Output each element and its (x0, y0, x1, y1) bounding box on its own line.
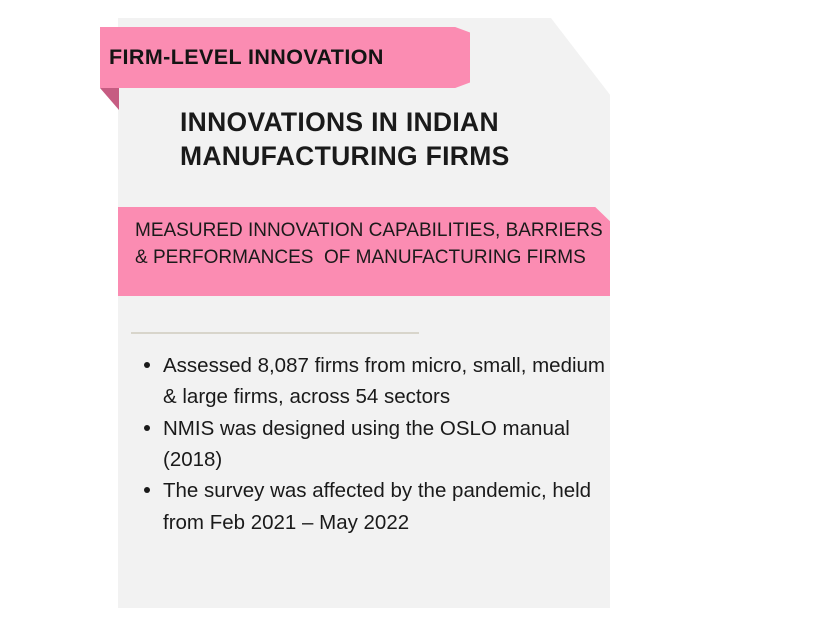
list-item: Assessed 8,087 firms from micro, small, … (163, 350, 615, 413)
slide-canvas: FIRM-LEVEL INNOVATION INNOVATIONS IN IND… (0, 0, 825, 619)
page-title: INNOVATIONS IN INDIAN MANUFACTURING FIRM… (180, 106, 580, 174)
divider (131, 332, 419, 334)
subtitle-band: MEASURED INNOVATION CAPABILITIES, BARRIE… (118, 207, 610, 296)
list-item: The survey was affected by the pandemic,… (163, 475, 615, 538)
list-item: NMIS was designed using the OSLO manual … (163, 413, 615, 476)
bullet-dot-icon (144, 362, 150, 368)
bullet-dot-icon (144, 425, 150, 431)
bullet-list: Assessed 8,087 firms from micro, small, … (140, 350, 615, 538)
banner-fold-triangle-icon (100, 88, 119, 110)
list-item-text: Assessed 8,087 firms from micro, small, … (163, 354, 605, 408)
eyebrow-label: FIRM-LEVEL INNOVATION (100, 45, 384, 70)
bullet-dot-icon (144, 487, 150, 493)
list-item-text: The survey was affected by the pandemic,… (163, 479, 591, 533)
eyebrow-banner: FIRM-LEVEL INNOVATION (100, 27, 470, 88)
list-item-text: NMIS was designed using the OSLO manual … (163, 417, 570, 471)
subtitle-text: MEASURED INNOVATION CAPABILITIES, BARRIE… (135, 218, 605, 272)
